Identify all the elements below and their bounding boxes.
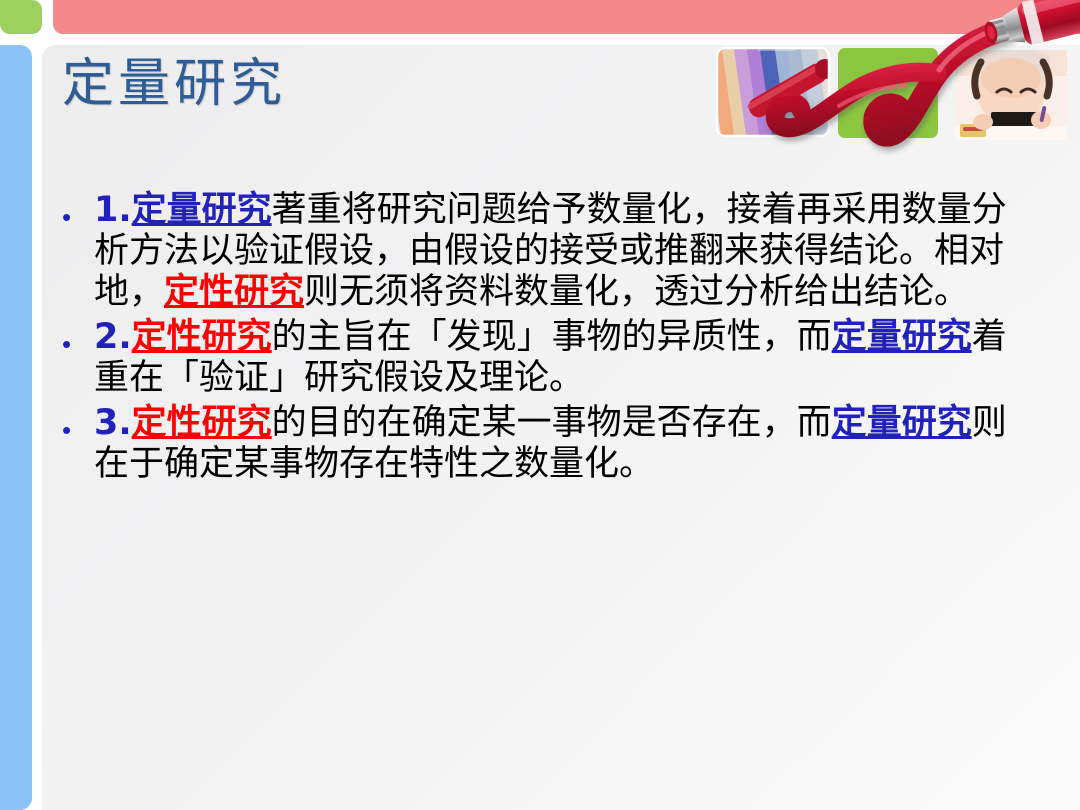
bullet-number: 2. — [94, 317, 132, 357]
bullet-body-text: 的目的在确定某一事物是否存在，而 — [272, 403, 832, 443]
keyword-qualitative: 定性研究 — [132, 317, 272, 357]
keyword-qualitative: 定性研究 — [132, 403, 272, 443]
bullet-body-text: 则无须将资料数量化，透过分析给出结论。 — [304, 272, 969, 312]
decor-green-block — [0, 0, 42, 34]
bullet-marker-icon: • — [62, 190, 94, 230]
bullet-text: 3.定性研究的目的在确定某一事物是否存在，而定量研究则在于确定某事物存在特性之数… — [94, 403, 1012, 485]
bullet-body-text: 的主旨在「发现」事物的异质性，而 — [272, 317, 832, 357]
keyword-qualitative: 定性研究 — [164, 272, 304, 312]
bullet-number: 3. — [94, 403, 132, 443]
bullet-marker-icon: • — [62, 317, 94, 357]
bullet-text: 2.定性研究的主旨在「发现」事物的异质性，而定量研究着重在「验证」研究假设及理论… — [94, 317, 1012, 399]
list-item: • 1.定量研究著重将研究问题给予数量化，接着再采用数量分析方法以验证假设，由假… — [62, 190, 1012, 313]
keyword-quantitative: 定量研究 — [832, 403, 972, 443]
decor-blue-sidebar — [0, 45, 32, 810]
page-title: 定量研究 — [62, 58, 286, 110]
slide-canvas: 定量研究 — [0, 0, 1080, 810]
bullet-list: • 1.定量研究著重将研究问题给予数量化，接着再采用数量分析方法以验证假设，由假… — [62, 190, 1012, 489]
bullet-text: 1.定量研究著重将研究问题给予数量化，接着再采用数量分析方法以验证假设，由假设的… — [94, 190, 1012, 313]
list-item: • 3.定性研究的目的在确定某一事物是否存在，而定量研究则在于确定某事物存在特性… — [62, 403, 1012, 485]
decor-pink-bar — [53, 0, 1080, 34]
bullet-marker-icon: • — [62, 403, 94, 443]
keyword-quantitative: 定量研究 — [832, 317, 972, 357]
list-item: • 2.定性研究的主旨在「发现」事物的异质性，而定量研究着重在「验证」研究假设及… — [62, 317, 1012, 399]
bullet-number: 1. — [94, 190, 132, 230]
keyword-quantitative: 定量研究 — [132, 190, 272, 230]
